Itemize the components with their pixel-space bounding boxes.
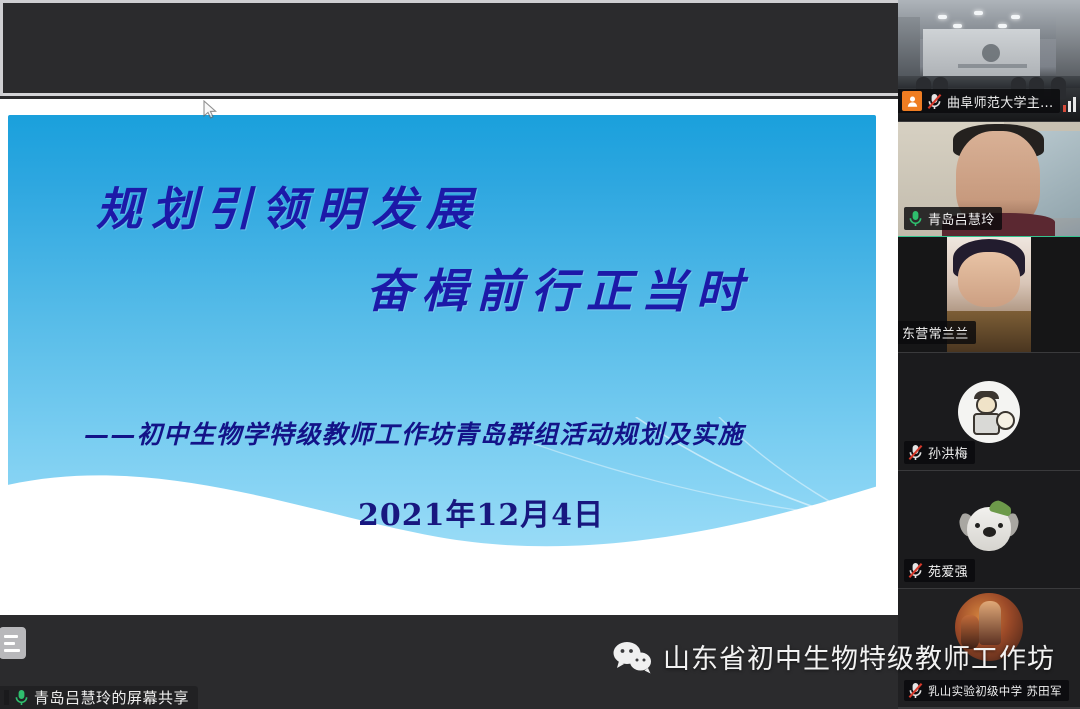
shared-screen-region: 规划引领明发展 奋楫前行正当时 ——初中生物学特级教师工作坊青岛群组活动规划及实… (0, 0, 898, 709)
mic-muted-icon (908, 562, 923, 579)
dog-avatar-image (958, 499, 1020, 561)
participant-nameplate: 孙洪梅 (904, 441, 975, 464)
participant-name: 苑爱强 (928, 561, 968, 580)
screen-share-status-text: 青岛吕慧玲的屏幕共享 (34, 687, 189, 708)
participant-video-strip[interactable]: 曲阜师范大学主... (898, 0, 1080, 709)
participant-tile-sunhongmei[interactable]: 孙洪梅 (898, 353, 1080, 471)
audio-level-indicator (1063, 97, 1076, 112)
mic-on-icon (908, 210, 923, 227)
participant-name: 孙洪梅 (928, 443, 968, 462)
participant-tile-qingdao-lvhuiling[interactable]: 青岛吕慧玲 (898, 122, 1080, 237)
participant-tile-yuanaiqiang[interactable]: 苑爱强 (898, 471, 1080, 589)
participant-nameplate: 苑爱强 (904, 559, 975, 582)
participant-name: 东营常兰兰 (902, 323, 969, 342)
participant-name: 曲阜师范大学主... (947, 92, 1053, 111)
cartoon-avatar-image (958, 381, 1020, 443)
widget-line-1 (4, 635, 18, 638)
wechat-icon (612, 640, 652, 674)
mic-muted-icon (927, 93, 942, 110)
mouse-cursor-icon (202, 100, 218, 120)
presentation-slide: 规划引领明发展 奋楫前行正当时 ——初中生物学特级教师工作坊青岛群组活动规划及实… (8, 115, 876, 611)
widget-line-3 (4, 649, 20, 652)
mic-muted-icon (908, 444, 923, 461)
participant-name: 青岛吕慧玲 (928, 209, 995, 228)
participant-nameplate: 东营常兰兰 (898, 321, 976, 344)
mic-on-icon (14, 689, 29, 706)
watermark-text: 山东省初中生物特级教师工作坊 (663, 637, 1055, 676)
participant-avatar-icon (902, 91, 922, 111)
participant-tile-qufu-normal-university[interactable]: 曲阜师范大学主... (898, 0, 1080, 122)
meeting-screen-share-window: 规划引领明发展 奋楫前行正当时 ——初中生物学特级教师工作坊青岛群组活动规划及实… (0, 0, 1080, 709)
participant-nameplate: 青岛吕慧玲 (904, 207, 1002, 230)
wechat-watermark: 山东省初中生物特级教师工作坊 (612, 637, 1055, 676)
slide-title-block: 规划引领明发展 奋楫前行正当时 (8, 115, 876, 611)
floating-list-widget[interactable] (0, 627, 26, 659)
status-left-chip (4, 690, 9, 705)
slide-date: 2021年12月4日 (358, 490, 604, 534)
slide-title-line-2: 奋楫前行正当时 (366, 255, 751, 321)
participant-tile-dongying-changlanlan[interactable]: 东营常兰兰 (898, 237, 1080, 353)
mic-muted-icon (908, 682, 923, 699)
screen-share-status-bar: 青岛吕慧玲的屏幕共享 (0, 686, 198, 709)
slide-subtitle: ——初中生物学特级教师工作坊青岛群组活动规划及实施 (84, 415, 744, 451)
shared-screen-canvas[interactable]: 规划引领明发展 奋楫前行正当时 ——初中生物学特级教师工作坊青岛群组活动规划及实… (0, 99, 898, 615)
participant-nameplate: 曲阜师范大学主... (898, 89, 1060, 113)
shared-app-titlebar (0, 0, 898, 96)
widget-line-2 (4, 642, 15, 645)
slide-title-line-1: 规划引领明发展 (96, 173, 481, 239)
participant-name: 乳山实验初级中学 苏田军 (928, 683, 1062, 699)
participant-nameplate: 乳山实验初级中学 苏田军 (904, 680, 1069, 701)
